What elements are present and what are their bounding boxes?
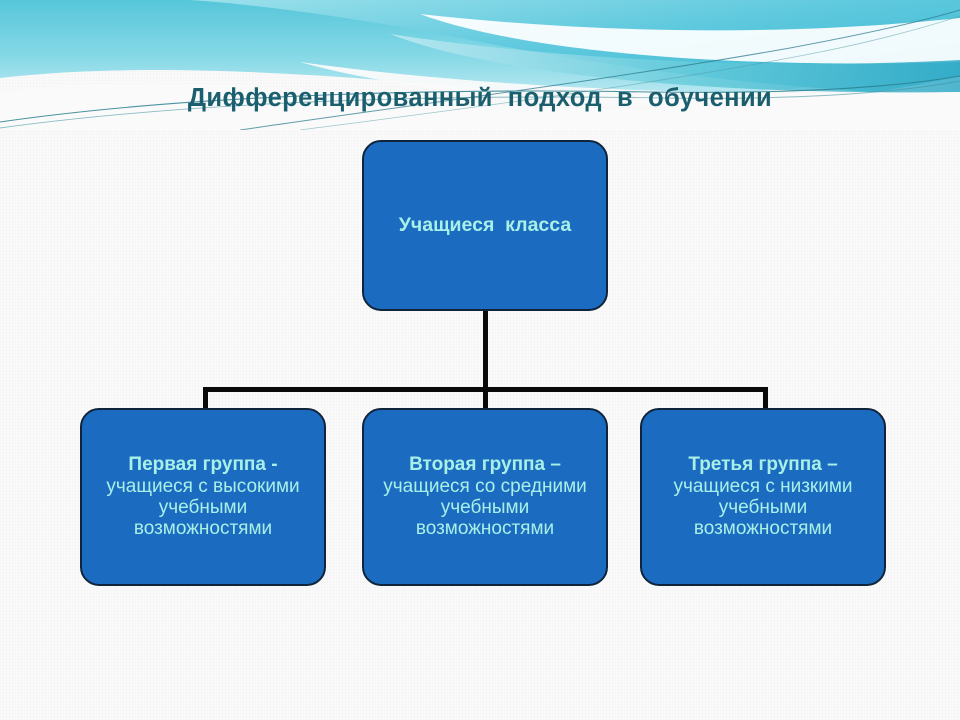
connector-vertical-stem [483, 310, 488, 392]
connector-drop-group-2 [483, 387, 488, 409]
org-node-root-label: Учащиеся класса [399, 215, 571, 237]
org-node-group-1[interactable]: Первая группа - учащиеся с высокими учеб… [80, 408, 326, 586]
org-node-group-3[interactable]: Третья группа – учащиеся с низкими учебн… [640, 408, 886, 586]
presentation-slide: Дифференцированный подход в обучении Уча… [0, 0, 960, 720]
org-chart: Учащиеся класса Первая группа - учащиеся… [0, 0, 960, 720]
org-node-group-3-heading: Третья группа – [650, 454, 876, 475]
org-node-group-2[interactable]: Вторая группа – учащиеся со средними уче… [362, 408, 608, 586]
org-node-group-3-body: учащиеся с низкими учебными возможностям… [650, 476, 876, 540]
connector-drop-group-1 [203, 387, 208, 409]
org-node-group-1-heading: Первая группа - [90, 454, 316, 475]
org-node-root[interactable]: Учащиеся класса [362, 140, 608, 311]
org-node-group-3-content: Третья группа – учащиеся с низкими учебн… [650, 454, 876, 539]
org-node-group-2-content: Вторая группа – учащиеся со средними уче… [372, 454, 598, 539]
org-node-group-2-heading: Вторая группа – [372, 454, 598, 475]
org-node-group-2-body: учащиеся со средними учебными возможност… [372, 476, 598, 540]
org-node-group-1-body: учащиеся с высокими учебными возможностя… [90, 476, 316, 540]
connector-drop-group-3 [763, 387, 768, 409]
org-node-group-1-content: Первая группа - учащиеся с высокими учеб… [90, 454, 316, 539]
